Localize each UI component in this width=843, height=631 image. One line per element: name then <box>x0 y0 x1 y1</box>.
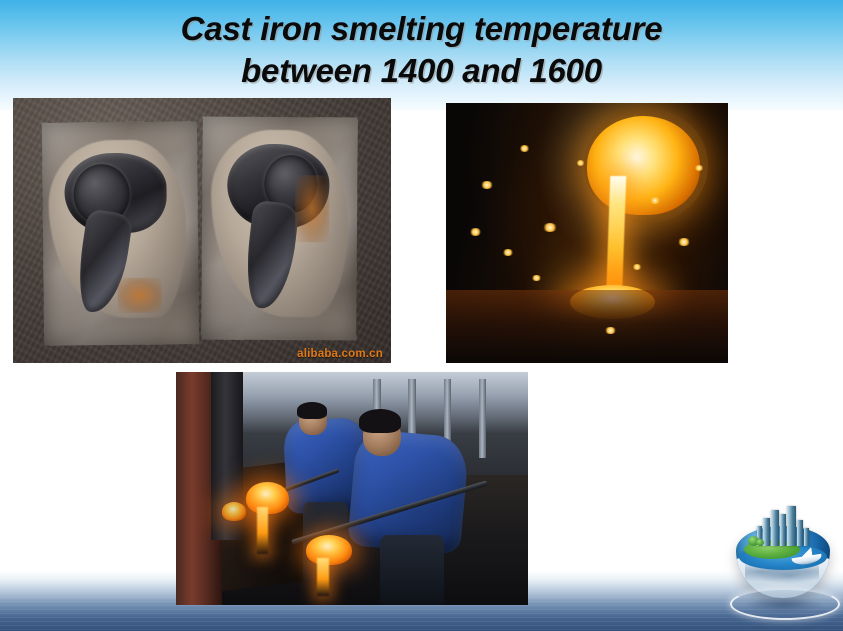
spark <box>542 223 558 232</box>
slide-canvas: Cast iron smelting temperature between 1… <box>0 0 843 631</box>
molten-drip <box>317 558 329 595</box>
alibaba-watermark: alibaba.com.cn <box>297 348 383 360</box>
spark <box>531 275 542 281</box>
slide-title: Cast iron smelting temperature between 1… <box>0 8 843 92</box>
spark <box>469 228 482 236</box>
skyscraper <box>763 518 770 546</box>
spark <box>519 145 530 152</box>
molten-ladle <box>306 535 352 565</box>
molten-drip <box>257 507 268 554</box>
spark <box>480 181 494 189</box>
spark <box>576 160 585 166</box>
mold-plates-photo: alibaba.com.cn <box>13 98 391 363</box>
skyscraper <box>804 528 809 546</box>
mold-plate-right <box>201 116 358 340</box>
spark <box>604 327 617 334</box>
molten-ladle <box>246 482 288 515</box>
worker-legs <box>380 535 443 605</box>
mold-plate-left <box>42 121 199 345</box>
skyscraper <box>797 520 803 546</box>
rust-stain-left <box>118 277 162 313</box>
foundry-floor <box>446 290 728 363</box>
spark <box>502 249 514 256</box>
globe-water-ring <box>730 588 840 620</box>
worker-hair <box>359 409 401 432</box>
molten-pour-photo <box>446 103 728 363</box>
skyscraper <box>771 510 779 546</box>
ladle-molten-iron <box>587 116 700 215</box>
tree <box>756 539 764 546</box>
rust-stain-right <box>295 175 330 242</box>
globe-city-logo <box>730 500 836 620</box>
skyscraper <box>780 514 786 546</box>
skyscraper <box>787 506 796 546</box>
molten-glow <box>222 502 247 521</box>
spark <box>649 197 661 204</box>
workshop-column <box>479 379 487 458</box>
foundry-workers-photo <box>176 372 528 605</box>
worker-hair <box>297 402 327 418</box>
